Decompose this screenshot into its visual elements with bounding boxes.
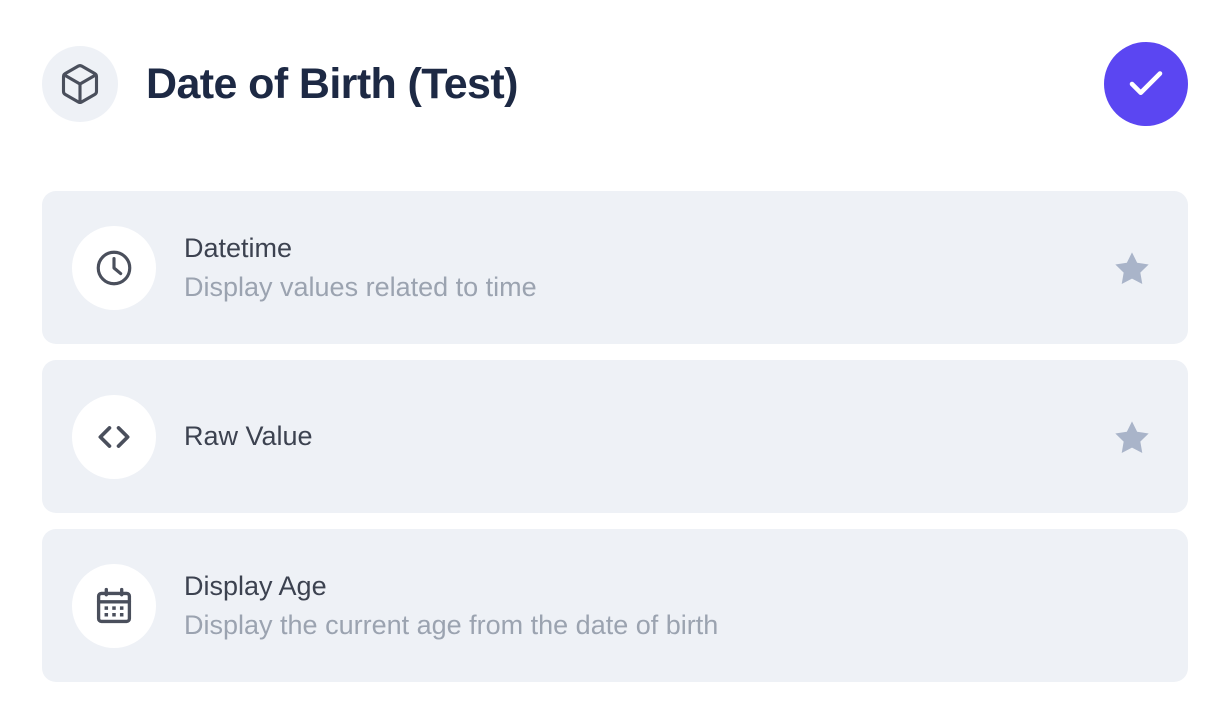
list-item[interactable]: Raw Value xyxy=(42,360,1188,513)
display-type-list: Datetime Display values related to time … xyxy=(42,191,1188,682)
confirm-button[interactable] xyxy=(1104,42,1188,126)
list-item-subtitle: Display values related to time xyxy=(184,270,537,305)
check-icon xyxy=(1125,63,1167,105)
page-title: Date of Birth (Test) xyxy=(146,63,518,106)
list-item-title: Display Age xyxy=(184,569,718,604)
list-item-title: Datetime xyxy=(184,231,537,266)
list-item-text: Raw Value xyxy=(184,419,313,454)
list-item[interactable]: Datetime Display values related to time xyxy=(42,191,1188,344)
header: Date of Birth (Test) xyxy=(42,38,1188,130)
list-item-title: Raw Value xyxy=(184,419,313,454)
list-item-text: Display Age Display the current age from… xyxy=(184,569,718,642)
code-brackets-icon xyxy=(72,395,156,479)
list-item-text: Datetime Display values related to time xyxy=(184,231,537,304)
calendar-icon xyxy=(72,564,156,648)
list-item[interactable]: Display Age Display the current age from… xyxy=(42,529,1188,682)
cube-icon xyxy=(42,46,118,122)
display-type-picker-screen: Date of Birth (Test) Datetime Display va… xyxy=(0,0,1216,704)
clock-icon xyxy=(72,226,156,310)
list-item-subtitle: Display the current age from the date of… xyxy=(184,608,718,643)
star-filled-icon[interactable] xyxy=(1110,246,1154,290)
star-filled-icon[interactable] xyxy=(1110,415,1154,459)
